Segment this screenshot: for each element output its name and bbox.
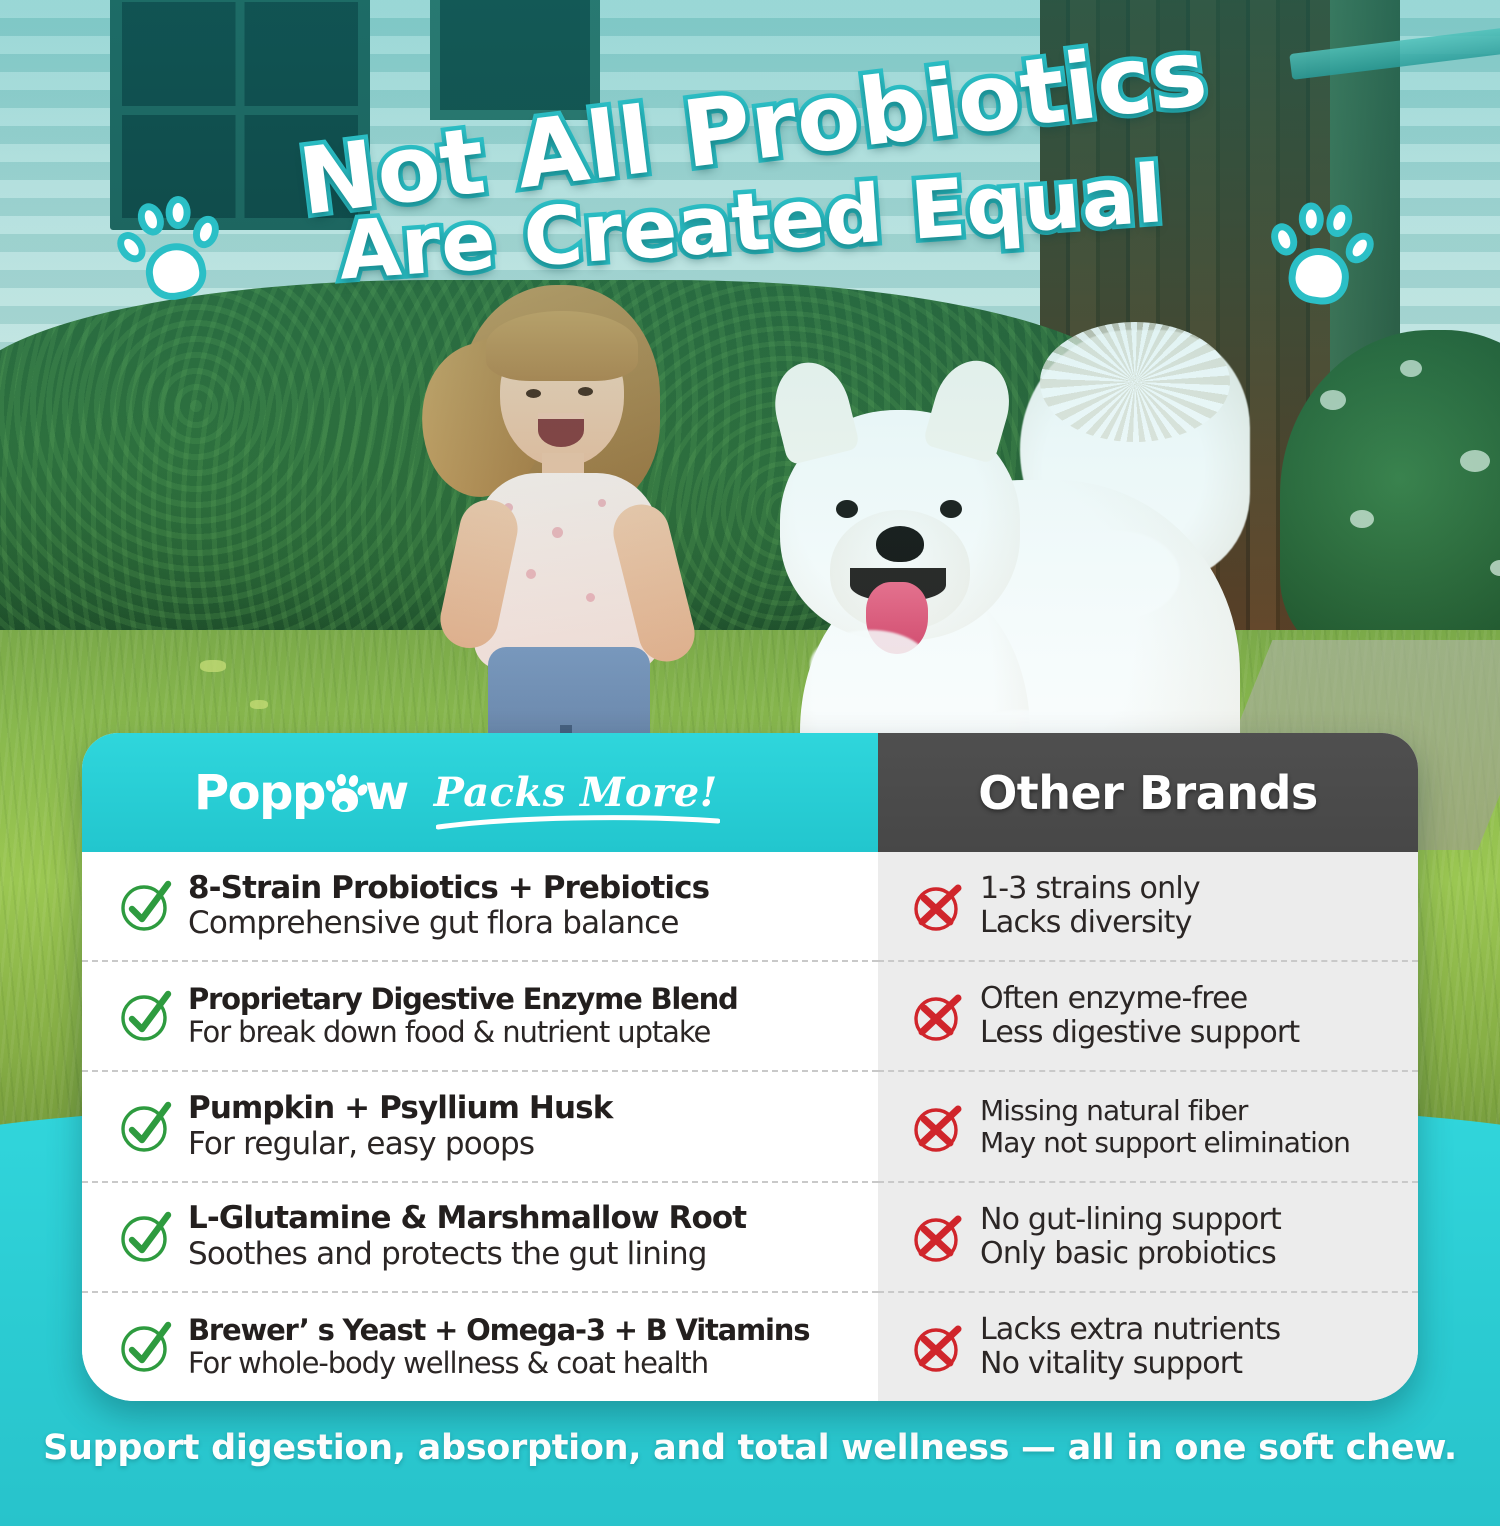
table-row: Often enzyme-free Less digestive support [878,962,1418,1072]
ours-subtitle: Comprehensive gut flora balance [188,906,709,941]
ours-title: Brewer’ s Yeast + Omega-3 + B Vitamins [188,1314,809,1347]
table-row: Missing natural fiber May not support el… [878,1072,1418,1182]
ours-subtitle: For regular, easy poops [188,1127,612,1162]
paw-print-logo-icon [325,773,365,813]
ours-column: 8-Strain Probiotics + Prebiotics Compreh… [82,852,878,1401]
ours-subtitle: For whole-body wellness & coat health [188,1347,809,1380]
cross-circle-icon [910,988,966,1044]
competitor-header-cell: Other Brands [878,733,1418,852]
table-row: Brewer’ s Yeast + Omega-3 + B Vitamins F… [82,1293,878,1401]
table-row: 8-Strain Probiotics + Prebiotics Compreh… [82,852,878,962]
comparison-card-header: Poppw Packs More! Other Brands [82,733,1418,852]
poppow-logo: Poppw [194,765,408,821]
competitor-title: Other Brands [978,766,1318,820]
theirs-line-2: Only basic probiotics [980,1237,1281,1271]
paw-print-icon [109,188,230,312]
ours-title: L-Glutamine & Marshmallow Root [188,1201,746,1236]
comparison-card: Poppw Packs More! Other Brands [82,733,1418,1401]
check-circle-icon [118,1319,174,1375]
theirs-line-2: Lacks diversity [980,906,1200,940]
cross-circle-icon [910,878,966,934]
comparison-card-body: 8-Strain Probiotics + Prebiotics Compreh… [82,852,1418,1401]
check-circle-icon [118,1209,174,1265]
bottom-tagline: Support digestion, absorption, and total… [0,1428,1500,1468]
swoosh-underline-icon [436,814,720,830]
table-row: No gut-lining support Only basic probiot… [878,1183,1418,1293]
ours-title: 8-Strain Probiotics + Prebiotics [188,871,709,906]
brand-tagline-wrap: Packs More! [434,769,718,816]
brand-tagline: Packs More! [434,769,718,816]
theirs-line-1: 1-3 strains only [980,872,1200,906]
check-circle-icon [118,1099,174,1155]
table-row: Lacks extra nutrients No vitality suppor… [878,1293,1418,1401]
theirs-line-2: No vitality support [980,1347,1280,1381]
headline-word-2: Are Created Equal [335,147,1166,297]
theirs-line-1: Lacks extra nutrients [980,1313,1280,1347]
ours-subtitle: Soothes and protects the gut lining [188,1237,746,1272]
cross-circle-icon [910,1319,966,1375]
theirs-column: 1-3 strains only Lacks diversity Often e… [878,852,1418,1401]
theirs-line-1: Missing natural fiber [980,1095,1350,1127]
theirs-line-2: May not support elimination [980,1127,1350,1159]
table-row: Pumpkin + Psyllium Husk For regular, eas… [82,1072,878,1182]
ours-title: Pumpkin + Psyllium Husk [188,1091,612,1126]
cross-circle-icon [910,1099,966,1155]
ours-title: Proprietary Digestive Enzyme Blend [188,983,738,1016]
theirs-line-1: No gut-lining support [980,1203,1281,1237]
paw-print-icon [1261,193,1379,314]
cross-circle-icon [910,1209,966,1265]
table-row: 1-3 strains only Lacks diversity [878,852,1418,962]
check-circle-icon [118,878,174,934]
theirs-line-2: Less digestive support [980,1016,1299,1050]
check-circle-icon [118,988,174,1044]
brand-header-cell: Poppw Packs More! [82,733,878,852]
table-row: L-Glutamine & Marshmallow Root Soothes a… [82,1183,878,1293]
table-row: Proprietary Digestive Enzyme Blend For b… [82,962,878,1072]
headline-line-1: Not All Probiotics [0,52,1500,159]
theirs-line-1: Often enzyme-free [980,982,1299,1016]
ours-subtitle: For break down food & nutrient uptake [188,1016,738,1049]
